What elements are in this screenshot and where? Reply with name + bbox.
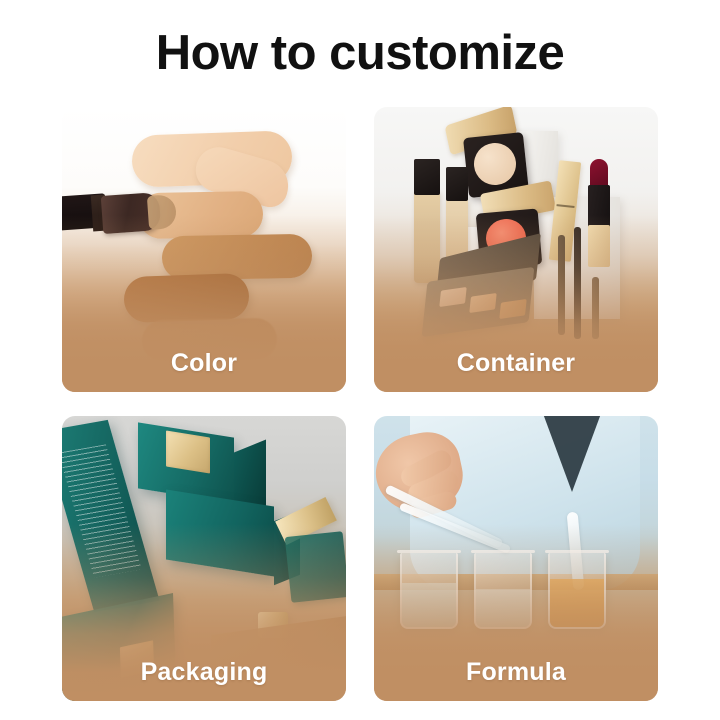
eyeliner-pencil-1 (558, 235, 565, 335)
card-packaging[interactable]: Packaging (62, 416, 346, 701)
beaker-1-liquid (402, 583, 456, 627)
eyeliner-pencil-3 (592, 277, 599, 339)
customize-page: How to customize Color (0, 0, 720, 720)
card-formula[interactable]: Formula (374, 416, 658, 701)
customize-option-grid: Color (62, 107, 658, 701)
card-label-packaging: Packaging (62, 658, 346, 687)
card-container[interactable]: Container (374, 107, 658, 392)
beaker-2 (474, 553, 532, 629)
page-title: How to customize (0, 28, 720, 79)
teal-glass-jar (285, 531, 346, 603)
card-color[interactable]: Color (62, 107, 346, 392)
beaker-2-liquid (476, 589, 530, 627)
beaker-3 (548, 553, 606, 629)
card-label-color: Color (62, 349, 346, 378)
beaker-3-liquid (550, 579, 604, 627)
foundation-bottle-1 (414, 191, 440, 283)
card-label-formula: Formula (374, 658, 658, 687)
lipstick-gold-base (588, 225, 610, 267)
foundation-cap-2 (446, 167, 468, 201)
foundation-cap-1 (414, 159, 440, 195)
eyeliner-pencil-2 (574, 227, 581, 339)
gold-foil-label-upper (166, 431, 210, 474)
card-label-container: Container (374, 349, 658, 378)
beaker-1 (400, 553, 458, 629)
swatch-shade-4 (123, 273, 250, 323)
lab-coat-collar (538, 416, 606, 492)
swatch-shade-3 (162, 234, 313, 281)
